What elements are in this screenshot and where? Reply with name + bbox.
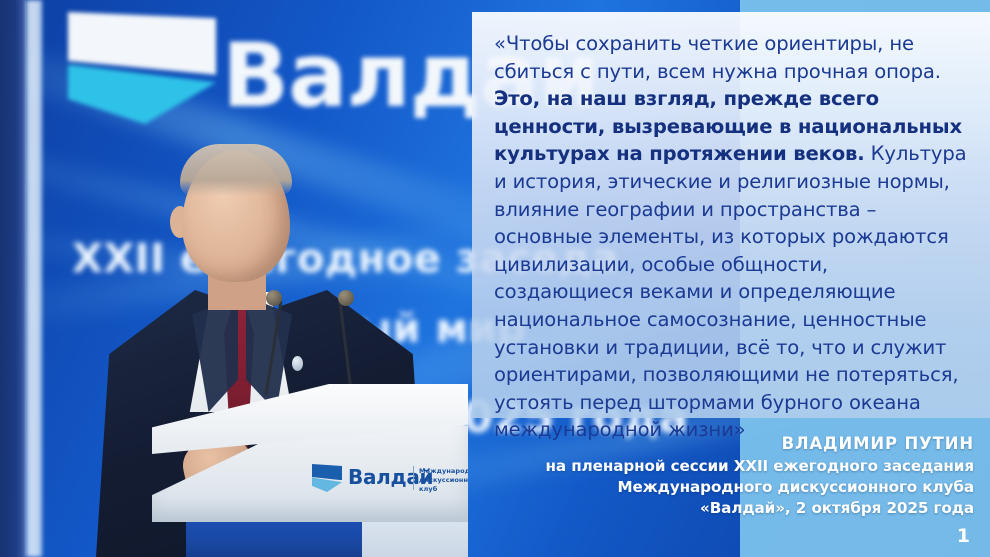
page-number: 1 xyxy=(957,525,970,547)
valdai-logo-mark-icon xyxy=(68,12,216,124)
microphone-head-right xyxy=(338,290,354,306)
speaker-lapel-pin xyxy=(292,356,303,371)
stage-wall-strip xyxy=(0,0,26,557)
microphone-head-left xyxy=(266,290,282,306)
stage-wall-light-strip xyxy=(26,0,42,557)
attribution-line-4: «Валдай», 2 октября 2025 года xyxy=(414,498,974,519)
quote-text: «Чтобы сохранить четкие ориентиры, не сб… xyxy=(494,30,972,444)
attribution-line-3: Международного дискуссионного клуба xyxy=(414,477,974,498)
presentation-slide: Валдай XXII ежегодное заседа ричный мир … xyxy=(0,0,990,557)
speaker-name: ВЛАДИМИР ПУТИН xyxy=(414,432,974,456)
quote-segment-tail: Культура и история, этические и религиоз… xyxy=(494,142,967,441)
quote-segment-lead: «Чтобы сохранить четкие ориентиры, не сб… xyxy=(494,32,941,83)
attribution-line-2: на пленарной сессии XXII ежегодного засе… xyxy=(414,456,974,477)
attribution-block: ВЛАДИМИР ПУТИН на пленарной сессии XXII … xyxy=(414,432,974,519)
quote-card: «Чтобы сохранить четкие ориентиры, не сб… xyxy=(472,12,990,418)
speaker-hair xyxy=(180,144,292,196)
valdai-mark-icon xyxy=(312,464,342,492)
